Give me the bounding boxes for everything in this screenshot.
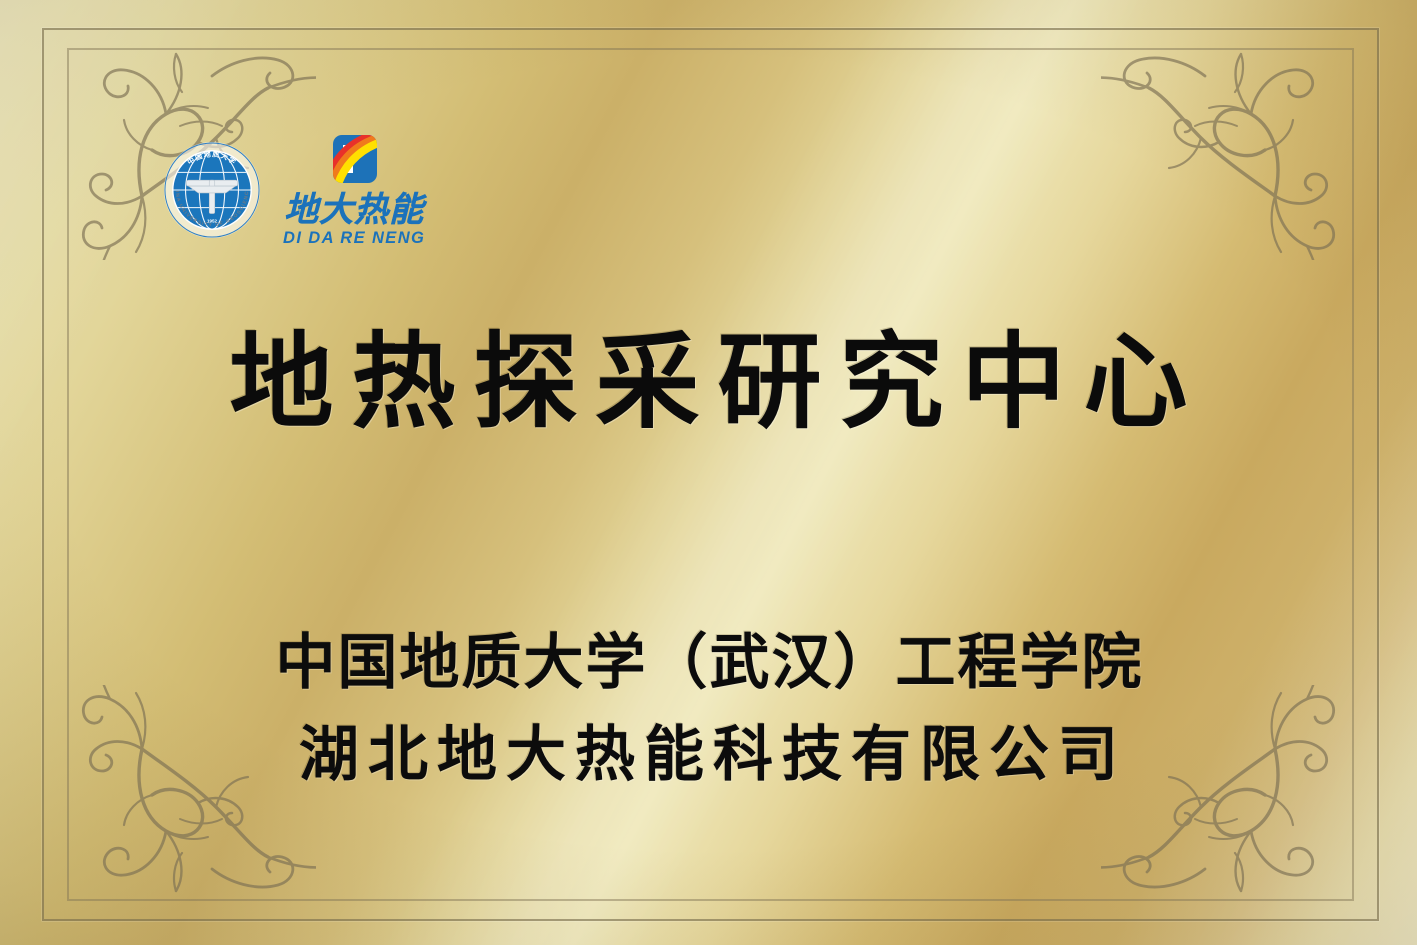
- svg-text:1952: 1952: [207, 218, 218, 223]
- company-name-cn: 地大热能: [284, 193, 424, 227]
- organization-line-2: 湖北地大热能科技有限公司: [0, 722, 1417, 788]
- university-seal: 中国地质大学 CHINA UNIVERSITY OF GEOSCIENCES 1…: [163, 141, 261, 239]
- corner-ornament-top-right: [1101, 10, 1401, 260]
- organization-line-1: 中国地质大学（武汉）工程学院: [0, 630, 1417, 696]
- logo-row: 中国地质大学 CHINA UNIVERSITY OF GEOSCIENCES 1…: [163, 133, 425, 247]
- company-logo: 地大热能 DI DA RE NENG: [283, 133, 425, 247]
- company-name-en: DI DA RE NENG: [283, 230, 425, 247]
- page-title: 地热探采研究中心: [0, 326, 1417, 438]
- award-plaque: 中国地质大学 CHINA UNIVERSITY OF GEOSCIENCES 1…: [0, 0, 1417, 945]
